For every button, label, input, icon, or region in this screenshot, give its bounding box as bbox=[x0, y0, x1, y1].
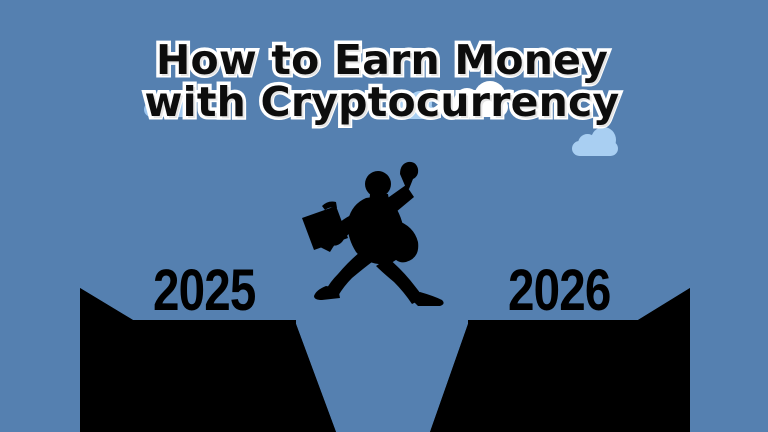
head bbox=[365, 171, 391, 197]
trailing-shoe bbox=[314, 286, 340, 300]
thumbnail-canvas: 2025 2026 How to Earn Money with Cryptoc… bbox=[0, 0, 768, 432]
year-label-left: 2025 bbox=[153, 262, 256, 320]
businessman-jumping-silhouette bbox=[296, 140, 466, 310]
year-label-right: 2026 bbox=[508, 262, 611, 320]
raised-arm bbox=[400, 162, 418, 189]
briefcase bbox=[302, 206, 348, 250]
